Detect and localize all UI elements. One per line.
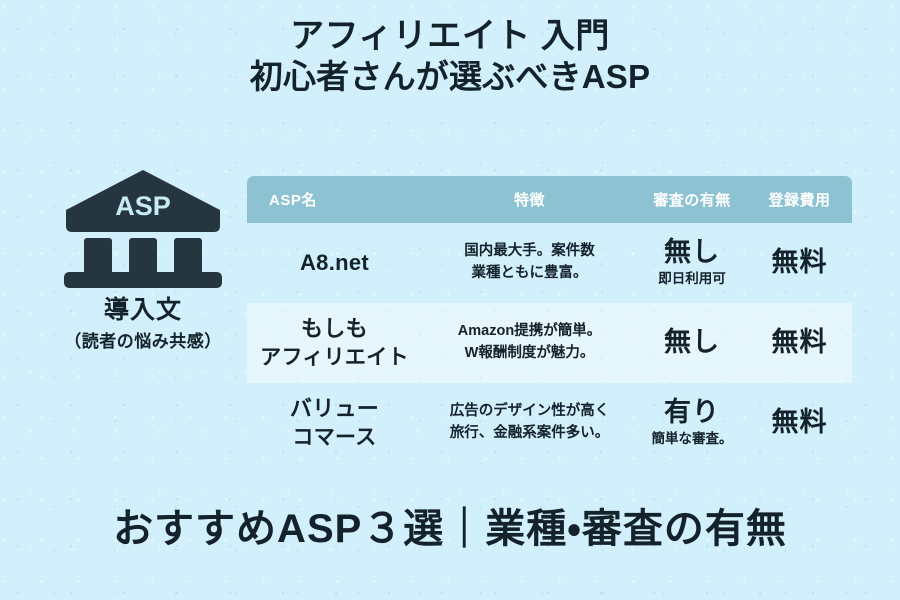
feature-line-1: Amazon提携が簡単。 bbox=[458, 323, 601, 339]
cell-review: 無し bbox=[637, 303, 747, 383]
intro-caption-sub: （読者の悩み共感） bbox=[48, 327, 238, 352]
asp-name-line-1: もしも bbox=[301, 316, 368, 341]
column-header-fee: 登録費用 bbox=[747, 176, 852, 223]
poster-canvas: アフィリエイト 入門 初心者さんが選ぶべきASP ASP 導入文 （読者の悩み共… bbox=[0, 0, 900, 600]
asp-name-line-2: アフィリエイト bbox=[260, 346, 409, 369]
page-title: アフィリエイト 入門 初心者さんが選ぶべきASP bbox=[0, 16, 900, 97]
review-note: 簡単な審査。 bbox=[637, 430, 747, 448]
cell-feature: 広告のデザイン性が高く 旅行、金融系案件多い。 bbox=[422, 383, 637, 463]
cell-review: 有り 簡単な審査。 bbox=[637, 383, 747, 463]
feature-line-2: W報酬制度が魅力。 bbox=[465, 345, 595, 361]
cell-asp-name: もしも アフィリエイト bbox=[247, 303, 422, 383]
fee-value: 無料 bbox=[747, 328, 852, 358]
asp-comparison-table: ASP名 特徴 審査の有無 登録費用 A8.net 国内最大手。案件数 業種とも… bbox=[247, 176, 852, 463]
table-row: バリュー コマース 広告のデザイン性が高く 旅行、金融系案件多い。 有り 簡単な… bbox=[247, 383, 852, 463]
cell-review: 無し 即日利用可 bbox=[637, 223, 747, 303]
column-header-asp-name: ASP名 bbox=[247, 176, 422, 223]
fee-value: 無料 bbox=[747, 408, 852, 438]
table-row: A8.net 国内最大手。案件数 業種ともに豊富。 無し 即日利用可 無料 bbox=[247, 223, 852, 303]
intro-caption-main: 導入文 bbox=[48, 290, 238, 326]
asp-name-line-1: バリュー bbox=[290, 396, 379, 421]
headline-line-1: アフィリエイト 入門 bbox=[0, 16, 900, 56]
review-value: 無し bbox=[637, 328, 747, 358]
headline-line-2: 初心者さんが選ぶべきASP bbox=[0, 58, 900, 97]
cell-feature: Amazon提携が簡単。 W報酬制度が魅力。 bbox=[422, 303, 637, 383]
cell-asp-name: A8.net bbox=[247, 223, 422, 303]
table-header-row: ASP名 特徴 審査の有無 登録費用 bbox=[247, 176, 852, 223]
bank-icon-label: ASP bbox=[115, 191, 171, 221]
review-value: 無し bbox=[637, 238, 747, 268]
cell-fee: 無料 bbox=[747, 223, 852, 303]
feature-line-1: 国内最大手。案件数 bbox=[464, 243, 595, 259]
fee-value: 無料 bbox=[747, 248, 852, 278]
column-header-feature: 特徴 bbox=[422, 176, 637, 223]
review-value: 有り bbox=[637, 398, 747, 428]
cell-feature: 国内最大手。案件数 業種ともに豊富。 bbox=[422, 223, 637, 303]
feature-line-2: 業種ともに豊富。 bbox=[472, 265, 588, 281]
cell-fee: 無料 bbox=[747, 303, 852, 383]
asp-name-line-2: コマース bbox=[292, 426, 376, 449]
footer-caption: おすすめASP３選｜業種・審査の有無 bbox=[0, 496, 900, 554]
review-note: 即日利用可 bbox=[637, 270, 747, 288]
cell-fee: 無料 bbox=[747, 383, 852, 463]
feature-line-1: 広告のデザイン性が高く bbox=[450, 403, 610, 419]
cell-asp-name: バリュー コマース bbox=[247, 383, 422, 463]
asp-name-line-1: A8.net bbox=[300, 250, 369, 275]
feature-line-2: 旅行、金融系案件多い。 bbox=[450, 425, 610, 441]
table-row: もしも アフィリエイト Amazon提携が簡単。 W報酬制度が魅力。 無し 無料 bbox=[247, 303, 852, 383]
intro-icon-block: ASP 導入文 （読者の悩み共感） bbox=[48, 168, 238, 352]
column-header-review: 審査の有無 bbox=[637, 176, 747, 223]
bank-building-icon: ASP bbox=[58, 168, 228, 288]
